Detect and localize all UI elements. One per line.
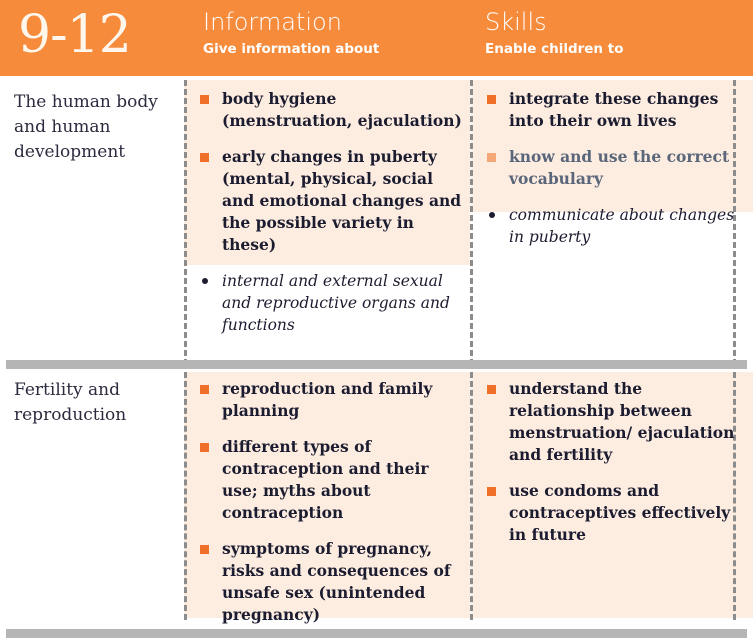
- list-item: internal and external sexual and reprodu…: [200, 270, 462, 336]
- header-information-title: Information: [203, 8, 379, 36]
- column-divider-middle-row2: [470, 372, 473, 620]
- row-separator-bar: [6, 360, 747, 369]
- list-row2-information: reproduction and family planning differe…: [200, 378, 462, 640]
- square-bullet-icon: [487, 487, 496, 496]
- list-item-text: symptoms of pregnancy, risks and consequ…: [222, 539, 451, 624]
- list-row1-skills: integrate these changes into their own l…: [487, 88, 739, 262]
- round-bullet-icon: [489, 212, 495, 218]
- square-bullet-icon: [200, 443, 209, 452]
- square-bullet-icon: [200, 545, 209, 554]
- list-item-text: integrate these changes into their own l…: [509, 89, 718, 130]
- round-bullet-icon: [202, 278, 208, 284]
- list-item-text: understand the relationship between mens…: [509, 379, 734, 464]
- list-item-text: internal and external sexual and reprodu…: [222, 272, 450, 334]
- list-item-text: communicate about changes in puberty: [509, 206, 734, 246]
- header-column-information: Information Give information about: [203, 8, 379, 59]
- table-header: 9-12 Information Give information about …: [0, 0, 753, 76]
- row-label-human-body: The human body and human development: [14, 90, 189, 165]
- header-column-skills: Skills Enable children to: [485, 8, 623, 59]
- list-item-text: body hygiene (menstruation, ejaculation): [222, 89, 462, 130]
- square-bullet-icon: [487, 153, 496, 162]
- list-item: use condoms and contraceptives effective…: [487, 480, 737, 546]
- list-item: integrate these changes into their own l…: [487, 88, 739, 132]
- age-range-title: 9-12: [18, 2, 131, 68]
- list-row1-information: body hygiene (menstruation, ejaculation)…: [200, 88, 462, 350]
- list-item-text: know and use the correct vocabulary: [509, 147, 729, 188]
- list-row2-skills: understand the relationship between mens…: [487, 378, 737, 560]
- list-item: early changes in puberty (mental, physic…: [200, 146, 462, 256]
- row-label-fertility: Fertility and reproduction: [14, 378, 189, 428]
- list-item-text: different types of contraception and the…: [222, 437, 429, 522]
- list-item: symptoms of pregnancy, risks and consequ…: [200, 538, 462, 626]
- list-item: reproduction and family planning: [200, 378, 462, 422]
- square-bullet-icon: [200, 385, 209, 394]
- list-item-text: early changes in puberty (mental, physic…: [222, 147, 461, 254]
- list-item: body hygiene (menstruation, ejaculation): [200, 88, 462, 132]
- list-item: understand the relationship between mens…: [487, 378, 737, 466]
- curriculum-table: 9-12 Information Give information about …: [0, 0, 753, 642]
- square-bullet-icon: [200, 153, 209, 162]
- list-item: communicate about changes in puberty: [487, 204, 739, 248]
- header-skills-subtitle: Enable children to: [485, 39, 623, 59]
- list-item: different types of contraception and the…: [200, 436, 462, 524]
- list-item-text: reproduction and family planning: [222, 379, 432, 420]
- list-item-text: use condoms and contraceptives effective…: [509, 481, 730, 544]
- column-divider-middle-row1: [470, 80, 473, 365]
- header-skills-title: Skills: [485, 8, 623, 36]
- square-bullet-icon: [487, 95, 496, 104]
- list-item: know and use the correct vocabulary: [487, 146, 739, 190]
- square-bullet-icon: [487, 385, 496, 394]
- header-information-subtitle: Give information about: [203, 39, 379, 59]
- square-bullet-icon: [200, 95, 209, 104]
